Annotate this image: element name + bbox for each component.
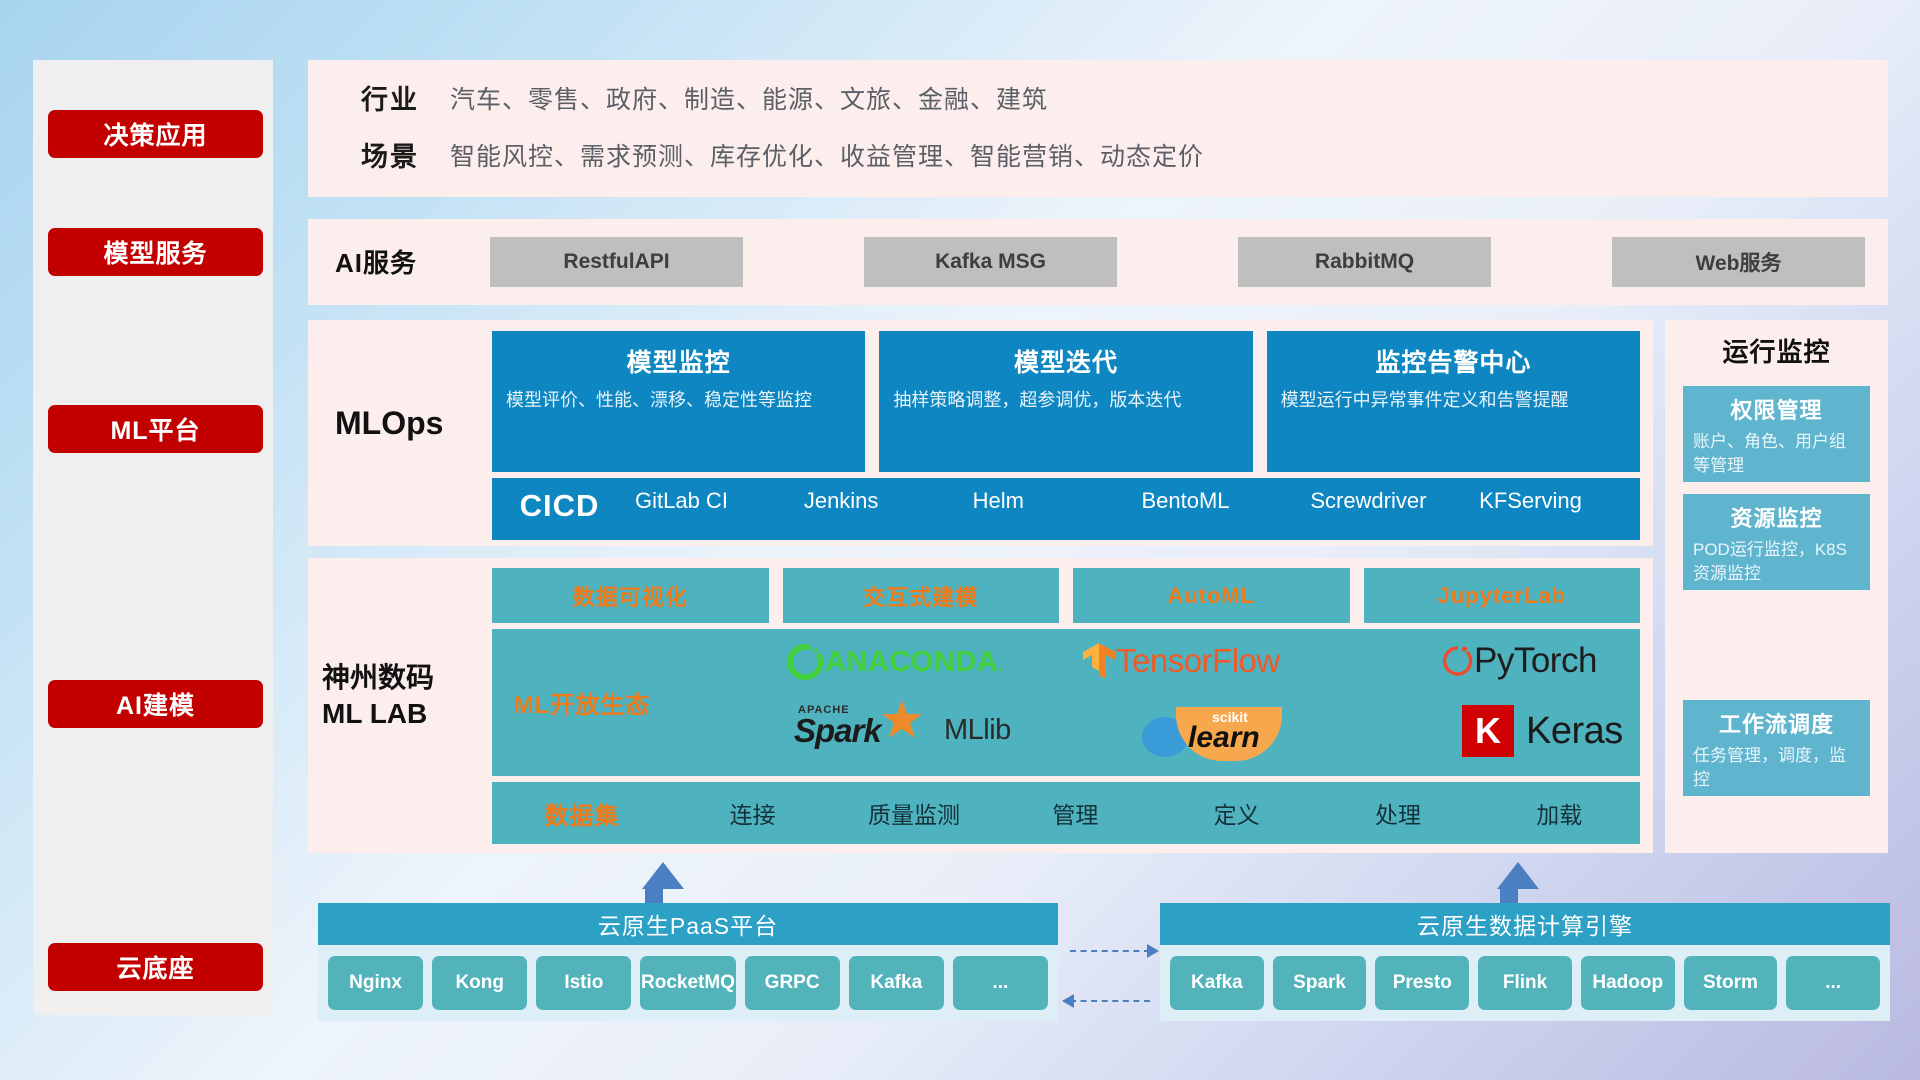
industry-label: 行业 <box>330 78 450 117</box>
dataset-item-manage[interactable]: 管理 <box>995 796 1156 830</box>
cloud-chip-grpc[interactable]: GRPC <box>745 956 840 1010</box>
left-rail <box>33 60 273 1015</box>
rail-tag-label: ML平台 <box>110 411 200 447</box>
dashed-connector-right <box>1070 950 1150 952</box>
keras-mark-icon: K <box>1462 705 1514 757</box>
cicd-item-bentoml[interactable]: BentoML <box>1133 488 1302 513</box>
ml-lab-chip-data-viz[interactable]: 数据可视化 <box>492 568 769 623</box>
ai-service-chip[interactable]: Web服务 <box>1612 237 1865 287</box>
cicd-item-list: GitLab CI Jenkins Helm BentoML Screwdriv… <box>627 488 1640 513</box>
ml-lab-label: 神州数码 ML LAB <box>322 660 482 733</box>
rail-tag-ai-modeling[interactable]: AI建模 <box>48 680 263 728</box>
rail-tag-label: 云底座 <box>116 949 194 985</box>
compute-chip-presto[interactable]: Presto <box>1375 956 1469 1010</box>
card-desc: 模型运行中异常事件定义和告警提醒 <box>1281 388 1626 414</box>
ml-lab-chip-interactive-modeling[interactable]: 交互式建模 <box>783 568 1060 623</box>
application-row-industry: 行业 汽车、零售、政府、制造、能源、文旅、金融、建筑 <box>330 78 1048 117</box>
cloud-base-compute: 云原生数据计算引擎 Kafka Spark Presto Flink Hadoo… <box>1160 903 1890 1021</box>
dataset-item-process[interactable]: 处理 <box>1317 796 1478 830</box>
dataset-item-connect[interactable]: 连接 <box>672 796 833 830</box>
cloud-chip-kafka[interactable]: Kafka <box>849 956 944 1010</box>
cicd-item-screwdriver[interactable]: Screwdriver <box>1302 488 1471 513</box>
dashed-arrow-right-icon <box>1147 944 1159 958</box>
arrow-up-paas-icon <box>642 862 684 889</box>
scenario-label: 场景 <box>330 135 450 174</box>
card-title: 监控告警中心 <box>1281 343 1626 379</box>
ml-lab-tool-chips: 数据可视化 交互式建模 AutoML JupyterLab <box>492 568 1640 623</box>
card-title: 工作流调度 <box>1693 707 1860 739</box>
scenario-values: 智能风控、需求预测、库存优化、收益管理、智能营销、动态定价 <box>450 137 1204 173</box>
ai-service-chip[interactable]: RabbitMQ <box>1238 237 1491 287</box>
cicd-bar: CICD GitLab CI Jenkins Helm BentoML Scre… <box>492 478 1640 540</box>
monitoring-title: 运行监控 <box>1665 332 1888 369</box>
mlops-card-model-monitoring[interactable]: 模型监控 模型评价、性能、漂移、稳定性等监控 <box>492 331 865 472</box>
ecosystem-logo-grid: ANACONDA. APACHE Spark MLlib <box>672 629 1640 776</box>
cicd-item-jenkins[interactable]: Jenkins <box>796 488 965 513</box>
tensorflow-mark-icon <box>1082 641 1116 681</box>
ml-lab-chip-automl[interactable]: AutoML <box>1073 568 1350 623</box>
anaconda-logo: ANACONDA. <box>787 643 1004 681</box>
spark-mllib-logo: APACHE Spark MLlib <box>794 704 1011 756</box>
rail-tag-model-service[interactable]: 模型服务 <box>48 228 263 276</box>
industry-values: 汽车、零售、政府、制造、能源、文旅、金融、建筑 <box>450 80 1048 116</box>
cloud-chip-more[interactable]: ... <box>953 956 1048 1010</box>
application-row-scenario: 场景 智能风控、需求预测、库存优化、收益管理、智能营销、动态定价 <box>330 135 1204 174</box>
spark-star-icon <box>880 698 924 742</box>
cicd-title: CICD <box>492 488 627 524</box>
dataset-label: 数据集 <box>492 796 672 831</box>
dashed-arrow-left-icon <box>1062 994 1074 1008</box>
cloud-base-paas: 云原生PaaS平台 Nginx Kong Istio RocketMQ GRPC… <box>318 903 1058 1021</box>
compute-chip-storm[interactable]: Storm <box>1684 956 1778 1010</box>
ml-open-ecosystem-label: ML开放生态 <box>492 685 672 720</box>
card-desc: POD运行监控，K8S资源监控 <box>1693 538 1860 586</box>
compute-chip-spark[interactable]: Spark <box>1273 956 1367 1010</box>
dataset-item-quality-monitoring[interactable]: 质量监测 <box>833 796 994 830</box>
card-desc: 模型评价、性能、漂移、稳定性等监控 <box>506 388 851 414</box>
anaconda-mark-icon <box>787 643 825 681</box>
scikit-learn-logo: scikit learn <box>1142 707 1312 763</box>
ai-service-chip-list: RestfulAPI Kafka MSG RabbitMQ Web服务 <box>490 237 1865 287</box>
mlops-card-alert-center[interactable]: 监控告警中心 模型运行中异常事件定义和告警提醒 <box>1267 331 1640 472</box>
compute-chip-kafka[interactable]: Kafka <box>1170 956 1264 1010</box>
cloud-chip-nginx[interactable]: Nginx <box>328 956 423 1010</box>
cicd-item-gitlab-ci[interactable]: GitLab CI <box>627 488 796 513</box>
tensorflow-logo: TensorFlow <box>1082 641 1280 681</box>
keras-logo: K Keras <box>1462 705 1623 757</box>
cloud-base-paas-chip-list: Nginx Kong Istio RocketMQ GRPC Kafka ... <box>318 945 1058 1021</box>
cloud-chip-rocketmq[interactable]: RocketMQ <box>640 956 735 1010</box>
cloud-base-compute-title: 云原生数据计算引擎 <box>1160 903 1890 945</box>
ai-service-chip[interactable]: RestfulAPI <box>490 237 743 287</box>
card-title: 模型监控 <box>506 343 851 379</box>
card-title: 权限管理 <box>1693 393 1860 425</box>
monitoring-card-resources[interactable]: 资源监控 POD运行监控，K8S资源监控 <box>1683 494 1870 590</box>
card-desc: 抽样策略调整，超参调优，版本迭代 <box>893 388 1238 414</box>
monitoring-card-permissions[interactable]: 权限管理 账户、角色、用户组等管理 <box>1683 386 1870 482</box>
ml-lab-label-line2: ML LAB <box>322 696 482 732</box>
mlops-card-list: 模型监控 模型评价、性能、漂移、稳定性等监控 模型迭代 抽样策略调整，超参调优，… <box>492 331 1640 472</box>
dashed-connector-left <box>1070 1000 1150 1002</box>
cloud-chip-istio[interactable]: Istio <box>536 956 631 1010</box>
mlops-label: MLOps <box>335 405 485 442</box>
rail-tag-ml-platform[interactable]: ML平台 <box>48 405 263 453</box>
dataset-item-load[interactable]: 加载 <box>1479 796 1640 830</box>
card-desc: 账户、角色、用户组等管理 <box>1693 430 1860 478</box>
cloud-base-paas-title: 云原生PaaS平台 <box>318 903 1058 945</box>
cicd-item-helm[interactable]: Helm <box>965 488 1134 513</box>
pytorch-flame-icon <box>1442 642 1474 680</box>
rail-tag-label: 决策应用 <box>103 116 207 152</box>
compute-chip-hadoop[interactable]: Hadoop <box>1581 956 1675 1010</box>
card-title: 模型迭代 <box>893 343 1238 379</box>
compute-chip-more[interactable]: ... <box>1786 956 1880 1010</box>
arrow-up-compute-icon <box>1497 862 1539 889</box>
ml-open-ecosystem-row: ML开放生态 ANACONDA. APACHE Spark <box>492 629 1640 776</box>
ai-service-label: AI服务 <box>335 243 465 280</box>
ml-lab-label-line1: 神州数码 <box>322 660 482 696</box>
rail-tag-label: AI建模 <box>116 686 195 722</box>
dataset-item-define[interactable]: 定义 <box>1156 796 1317 830</box>
rail-tag-cloud-base[interactable]: 云底座 <box>48 943 263 991</box>
cloud-base-compute-chip-list: Kafka Spark Presto Flink Hadoop Storm ..… <box>1160 945 1890 1021</box>
rail-tag-label: 模型服务 <box>103 234 207 270</box>
ml-lab-chip-jupyterlab[interactable]: JupyterLab <box>1364 568 1641 623</box>
cloud-chip-kong[interactable]: Kong <box>432 956 527 1010</box>
compute-chip-flink[interactable]: Flink <box>1478 956 1572 1010</box>
architecture-diagram: 决策应用 模型服务 ML平台 AI建模 云底座 行业 汽车、零售、政府、制造、能… <box>0 0 1920 1080</box>
monitoring-card-workflow[interactable]: 工作流调度 任务管理，调度，监控 <box>1683 700 1870 796</box>
card-title: 资源监控 <box>1693 501 1860 533</box>
pytorch-logo: PyTorch <box>1442 641 1597 681</box>
card-desc: 任务管理，调度，监控 <box>1693 744 1860 792</box>
rail-tag-decision-apps[interactable]: 决策应用 <box>48 110 263 158</box>
cicd-item-kfserving[interactable]: KFServing <box>1471 488 1640 513</box>
dataset-row: 数据集 连接 质量监测 管理 定义 处理 加载 <box>492 782 1640 844</box>
mlops-card-model-iteration[interactable]: 模型迭代 抽样策略调整，超参调优，版本迭代 <box>879 331 1252 472</box>
ai-service-chip[interactable]: Kafka MSG <box>864 237 1117 287</box>
